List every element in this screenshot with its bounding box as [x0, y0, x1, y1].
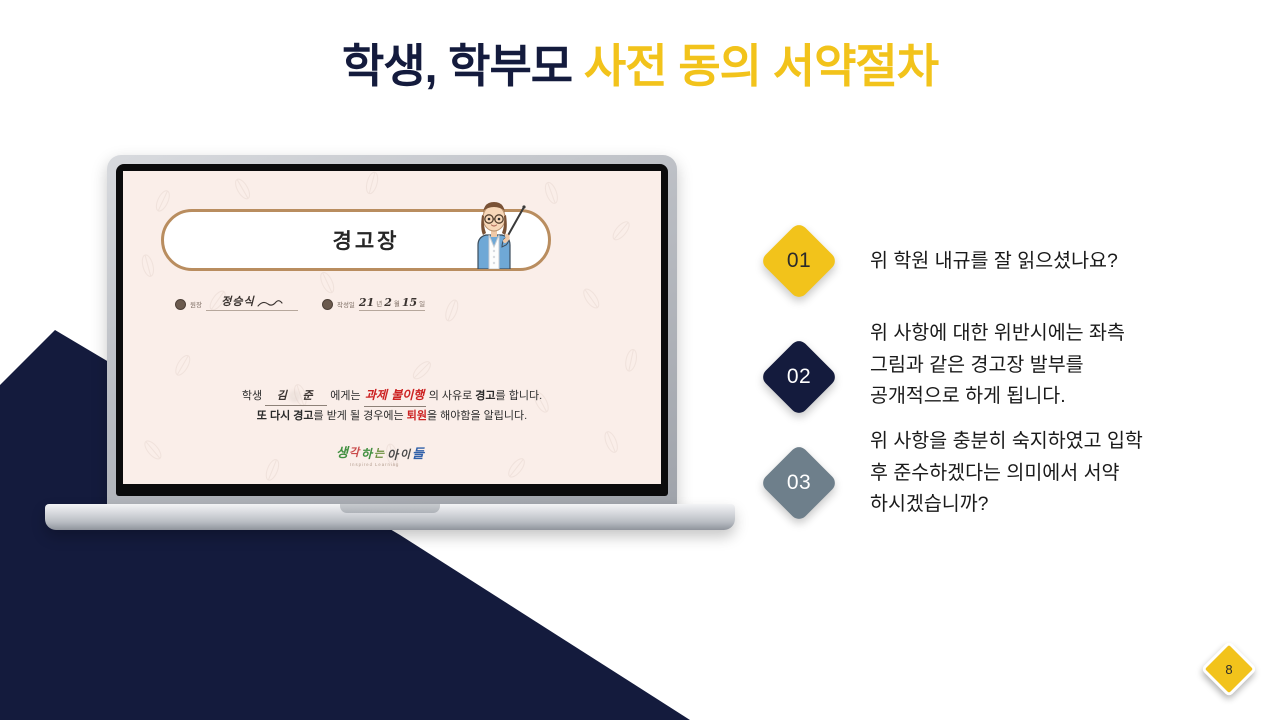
signature-scribble-icon [257, 299, 283, 308]
warning-reason-value: 과제 불이행 [364, 385, 426, 407]
step-number-01: 01 [760, 222, 838, 300]
seal-badge-icon [322, 299, 333, 310]
principal-signature-value: 정승식 [221, 295, 254, 308]
step-02-line-3: 공개적으로 하게 됩니다. [870, 381, 1260, 413]
teacher-illustration-icon [462, 195, 526, 269]
step-item-03[interactable]: 03 위 사항을 충분히 숙지하였고 입학 후 준수하겠다는 의미에서 서약 하… [760, 426, 1260, 522]
date-month-value: 2 [384, 296, 392, 309]
seal-badge-icon [175, 299, 186, 310]
step-02-line-2: 그림과 같은 경고장 발부를 [870, 350, 1260, 382]
laptop-base-notch [340, 504, 440, 513]
body-line1-end: 를 합니다. [496, 390, 543, 402]
svg-text:아: 아 [387, 448, 400, 462]
svg-text:하: 하 [361, 447, 374, 461]
date-year-value: 21 [359, 296, 374, 309]
date-day-value: 15 [402, 296, 417, 309]
step-number-03: 03 [760, 444, 838, 522]
step-number-02: 02 [760, 338, 838, 416]
svg-text:는: 는 [374, 447, 385, 460]
steps-list: 01 위 학원 내규를 잘 읽으셨나요? 02 위 사항에 대한 위반시에는 좌… [760, 222, 1260, 522]
body-expulsion-word: 퇴원 [407, 410, 427, 422]
principal-signature-line: 정승식 [206, 293, 298, 311]
title-segment-navy: 학생, 학부모 [342, 40, 584, 92]
certificate-body-text: 학생 김○준 에게는 과제 불이행 의 사유로 경고를 합니다. 또 다시 경고… [123, 385, 661, 426]
svg-text:생: 생 [336, 446, 350, 461]
academy-logo: 생 각 하 는 아 이 들 Inspired Learning [123, 443, 661, 474]
title-segment-yellow: 사전 동의 서약절차 [584, 40, 938, 92]
svg-text:들: 들 [412, 447, 426, 462]
page-number-value: 8 [1200, 640, 1258, 698]
step-03-line-1: 위 사항을 충분히 숙지하였고 입학 [870, 426, 1260, 458]
step-03-line-3: 하시겠습니까? [870, 489, 1260, 521]
svg-text:각: 각 [349, 446, 361, 459]
body-line2-prefix: 또 다시 경고 [257, 410, 314, 422]
laptop-lid: 경고장 [107, 155, 677, 510]
body-line2-end: 을 해야함을 알립니다. [427, 410, 527, 422]
body-line1-after: 의 사유로 [426, 390, 476, 402]
laptop-bezel: 경고장 [116, 164, 668, 496]
page-title: 학생, 학부모 사전 동의 서약절차 [0, 40, 1280, 93]
student-name-first: 김 [277, 389, 290, 402]
date-written-field: 작성일 21 년 2 월 15 일 [322, 293, 425, 311]
body-line1-mid: 에게는 [327, 390, 363, 402]
certificate-field-row: 원장 정승식 작성일 21 [175, 293, 545, 311]
step-text-01: 위 학원 내규를 잘 읽으셨나요? [838, 222, 1260, 278]
body-line1-prefix: 학생 [242, 390, 265, 402]
step-01-line-1: 위 학원 내규를 잘 읽으셨나요? [870, 246, 1260, 278]
svg-text:이: 이 [400, 448, 412, 461]
step-marker-03[interactable]: 03 [760, 444, 838, 522]
student-name-masked: ○ [290, 389, 303, 402]
page-number-badge: 8 [1200, 640, 1258, 698]
certificate-body-line-2: 또 다시 경고를 받게 될 경우에는 퇴원을 해야함을 알립니다. [123, 407, 661, 426]
step-02-line-1: 위 사항에 대한 위반시에는 좌측 [870, 318, 1260, 350]
step-text-03: 위 사항을 충분히 숙지하였고 입학 후 준수하겠다는 의미에서 서약 하시겠습… [838, 426, 1260, 521]
svg-text:Inspired Learning: Inspired Learning [350, 462, 399, 467]
certificate-header-banner: 경고장 [161, 209, 551, 271]
step-marker-02[interactable]: 02 [760, 338, 838, 416]
student-name-blank: 김○준 [265, 386, 327, 406]
body-line2-mid: 를 받게 될 경우에는 [314, 410, 407, 422]
academy-logo-icon: 생 각 하 는 아 이 들 Inspired Learning [336, 443, 448, 469]
laptop-mockup: 경고장 [45, 155, 735, 550]
slide-canvas: 학생, 학부모 사전 동의 서약절차 [0, 0, 1280, 720]
step-item-02[interactable]: 02 위 사항에 대한 위반시에는 좌측 그림과 같은 경고장 발부를 공개적으… [760, 318, 1260, 416]
step-item-01[interactable]: 01 위 학원 내규를 잘 읽으셨나요? [760, 222, 1260, 300]
date-year-unit: 년 [376, 298, 382, 308]
date-label: 작성일 [337, 299, 355, 309]
date-month-unit: 월 [394, 298, 400, 308]
date-value-line: 21 년 2 월 15 일 [359, 296, 425, 311]
step-text-02: 위 사항에 대한 위반시에는 좌측 그림과 같은 경고장 발부를 공개적으로 하… [838, 318, 1260, 413]
step-marker-01[interactable]: 01 [760, 222, 838, 300]
laptop-screen: 경고장 [123, 171, 661, 484]
date-day-unit: 일 [419, 298, 425, 308]
step-03-line-2: 후 준수하겠다는 의미에서 서약 [870, 458, 1260, 490]
student-name-last: 준 [302, 389, 315, 402]
certificate-body-line-1: 학생 김○준 에게는 과제 불이행 의 사유로 경고를 합니다. [123, 385, 661, 407]
laptop-base [45, 504, 735, 530]
body-warning-word: 경고 [475, 390, 495, 402]
principal-label: 원장 [190, 299, 202, 309]
principal-signature-field: 원장 정승식 [175, 293, 298, 311]
